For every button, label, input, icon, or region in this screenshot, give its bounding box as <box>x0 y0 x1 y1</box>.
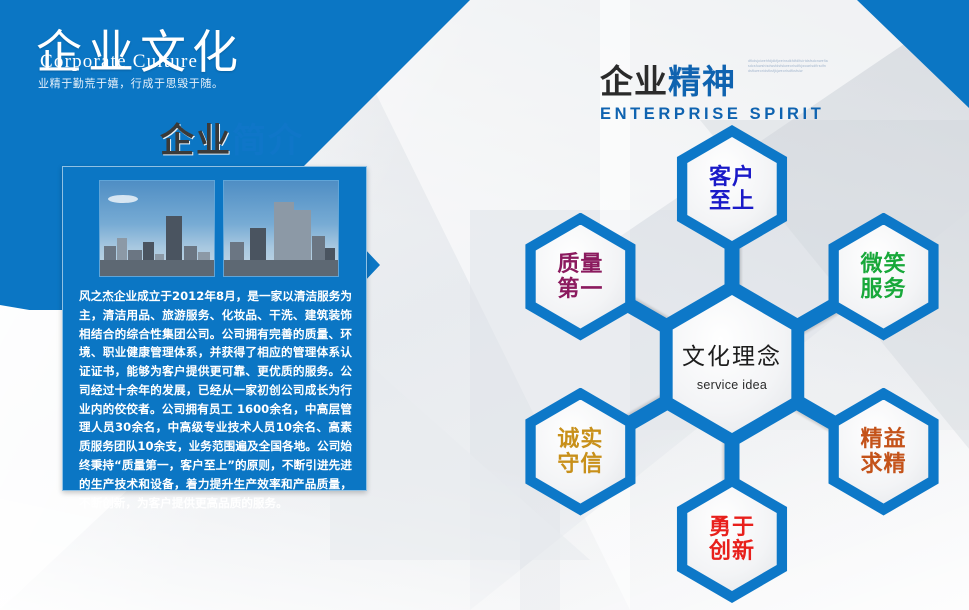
hexagon-node-label: 质量第一 <box>557 252 603 300</box>
company-intro-text: 风之杰企业成立于2012年8月，是一家以清洁服务为主，清洁用品、旅游服务、化妆品… <box>79 287 352 512</box>
label-line-1: 诚实 <box>557 427 603 451</box>
culture-hexagon-diagram: 文化理念service idea客户至上微笑服务精益求精勇于创新诚实守信质量第一 <box>495 118 969 610</box>
hexagon-node-label: 精益求精 <box>861 427 907 475</box>
hexagon-node-label: 诚实守信 <box>557 427 603 475</box>
hexagon-node-label: 微笑服务 <box>861 252 907 300</box>
label-line-1: 客户 <box>709 165 755 189</box>
center-label-en: service idea <box>697 378 767 392</box>
hexagon-node-label: 客户至上 <box>709 165 755 213</box>
label-line-2: 守信 <box>557 452 603 476</box>
label-line-2: 求精 <box>861 452 907 476</box>
banner-subtitle: 业精于勤荒于嬉，行成于思毁于随。 <box>38 75 224 91</box>
corner-triangle-decoration <box>857 0 969 108</box>
label-line-2: 服务 <box>861 277 907 301</box>
label-line-1: 质量 <box>557 252 603 276</box>
label-line-1: 勇于 <box>709 515 755 539</box>
enterprise-spirit-header: 企业精神 ENTERPRISE SPIRIT dfkdsjoiwehfdjdkf… <box>600 55 824 124</box>
hexagon-center-culture-idea[interactable]: 文化理念service idea <box>648 280 816 448</box>
section-heading-dark: 企业 <box>160 122 232 160</box>
label-line-1: 精益 <box>861 427 907 451</box>
section-heading-blue: 简介 <box>232 122 304 160</box>
company-intro-card: 风之杰企业成立于2012年8月，是一家以清洁服务为主，清洁用品、旅游服务、化妆品… <box>62 166 367 491</box>
hexagon-node-label: 勇于创新 <box>709 515 755 563</box>
banner-title-en: Corporate Culture <box>40 51 198 73</box>
section-heading: 企业简介 <box>160 113 304 162</box>
label-line-2: 第一 <box>557 277 603 301</box>
label-line-1: 微笑 <box>861 252 907 276</box>
hexagon-node-integrity[interactable]: 诚实守信 <box>516 388 644 516</box>
poster-canvas: 企业文化 Corporate Culture 业精于勤荒于嬉，行成于思毁于随。 … <box>0 0 969 610</box>
city-photo-1 <box>99 180 215 277</box>
hexagon-node-excellence[interactable]: 精益求精 <box>820 388 948 516</box>
hexagon-node-smile-service[interactable]: 微笑服务 <box>820 213 948 341</box>
spirit-title-blue: 精神 <box>668 63 736 100</box>
spirit-title-dark: 企业 <box>600 63 668 100</box>
city-photo-2 <box>223 180 339 277</box>
hexagon-node-quality-first[interactable]: 质量第一 <box>516 213 644 341</box>
hexagon-node-innovation[interactable]: 勇于创新 <box>668 475 796 603</box>
label-line-2: 至上 <box>709 189 755 213</box>
hexagon-node-customer-first[interactable]: 客户至上 <box>668 125 796 253</box>
label-line-2: 创新 <box>709 539 755 563</box>
center-label-cn: 文化理念 <box>682 337 782 371</box>
photo-strip <box>99 180 339 275</box>
decorative-filler-text: dfkdsjoiwehfdjdkfjweinsdkfdfdlfuirtdsfsd… <box>748 59 828 93</box>
